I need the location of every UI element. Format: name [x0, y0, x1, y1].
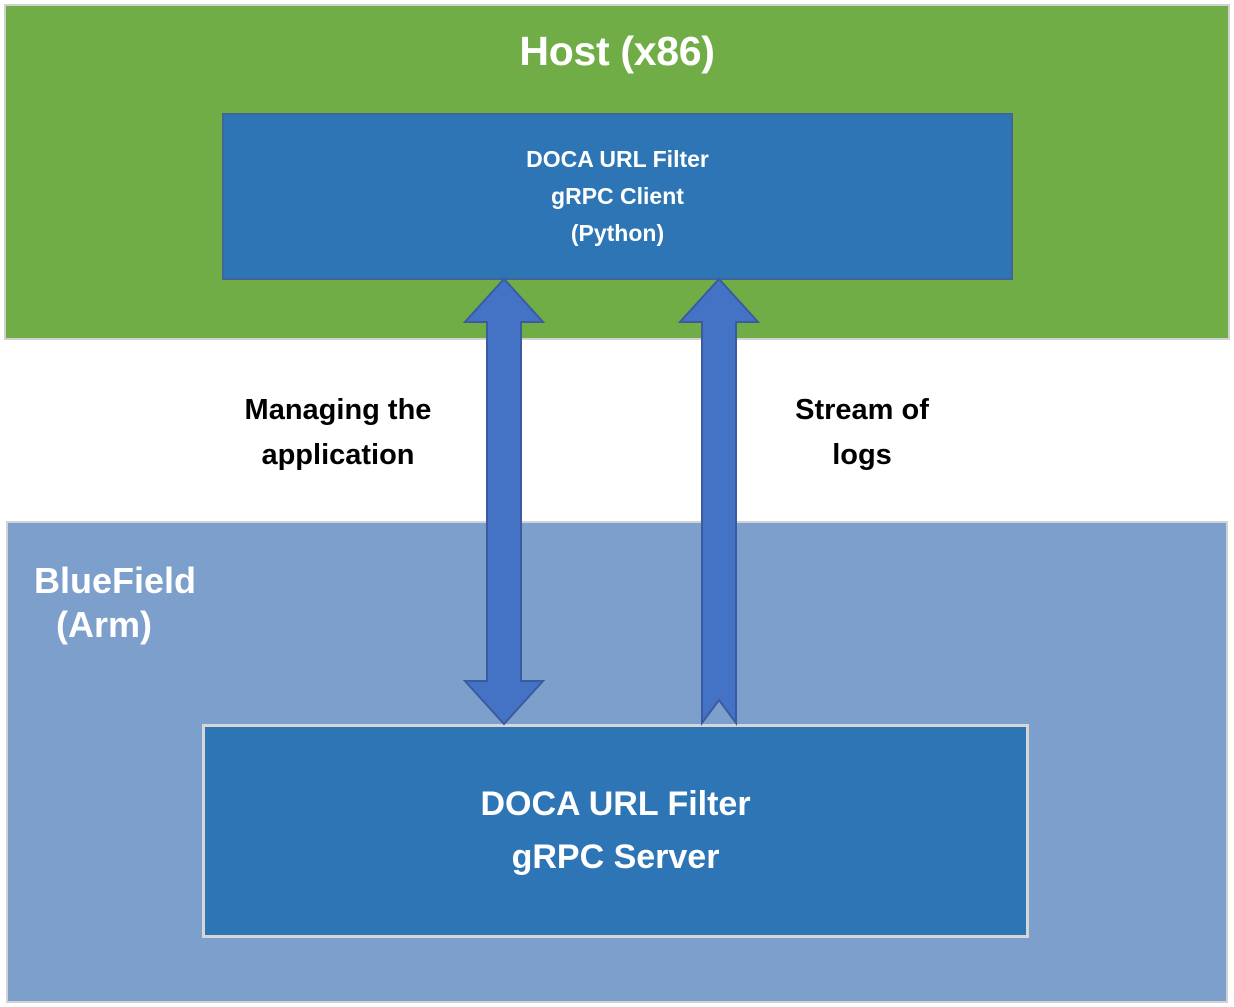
architecture-diagram: Host (x86) BlueField (Arm) DOCA URL Filt…: [0, 0, 1234, 1007]
bluefield-panel-title: BlueField (Arm): [34, 559, 334, 647]
client-box-line1: DOCA URL Filter: [526, 141, 709, 178]
doca-url-filter-grpc-client-box[interactable]: DOCA URL Filter gRPC Client (Python): [222, 113, 1013, 280]
bluefield-panel-title-line1: BlueField: [34, 560, 196, 601]
server-box-line1: DOCA URL Filter: [480, 778, 750, 831]
client-box-line2: gRPC Client: [551, 178, 684, 215]
server-box-line2: gRPC Server: [512, 831, 720, 884]
bluefield-panel-title-line2: (Arm): [34, 603, 334, 647]
host-panel-title: Host (x86): [6, 30, 1228, 73]
logs-label-line2: logs: [740, 433, 984, 478]
stream-of-logs-label: Stream of logs: [740, 388, 984, 478]
doca-url-filter-grpc-server-box[interactable]: DOCA URL Filter gRPC Server: [202, 724, 1029, 938]
managing-label-line2: application: [188, 433, 488, 478]
client-box-line3: (Python): [571, 215, 664, 252]
managing-the-application-label: Managing the application: [188, 388, 488, 478]
logs-label-line1: Stream of: [740, 388, 984, 433]
managing-label-line1: Managing the: [188, 388, 488, 433]
